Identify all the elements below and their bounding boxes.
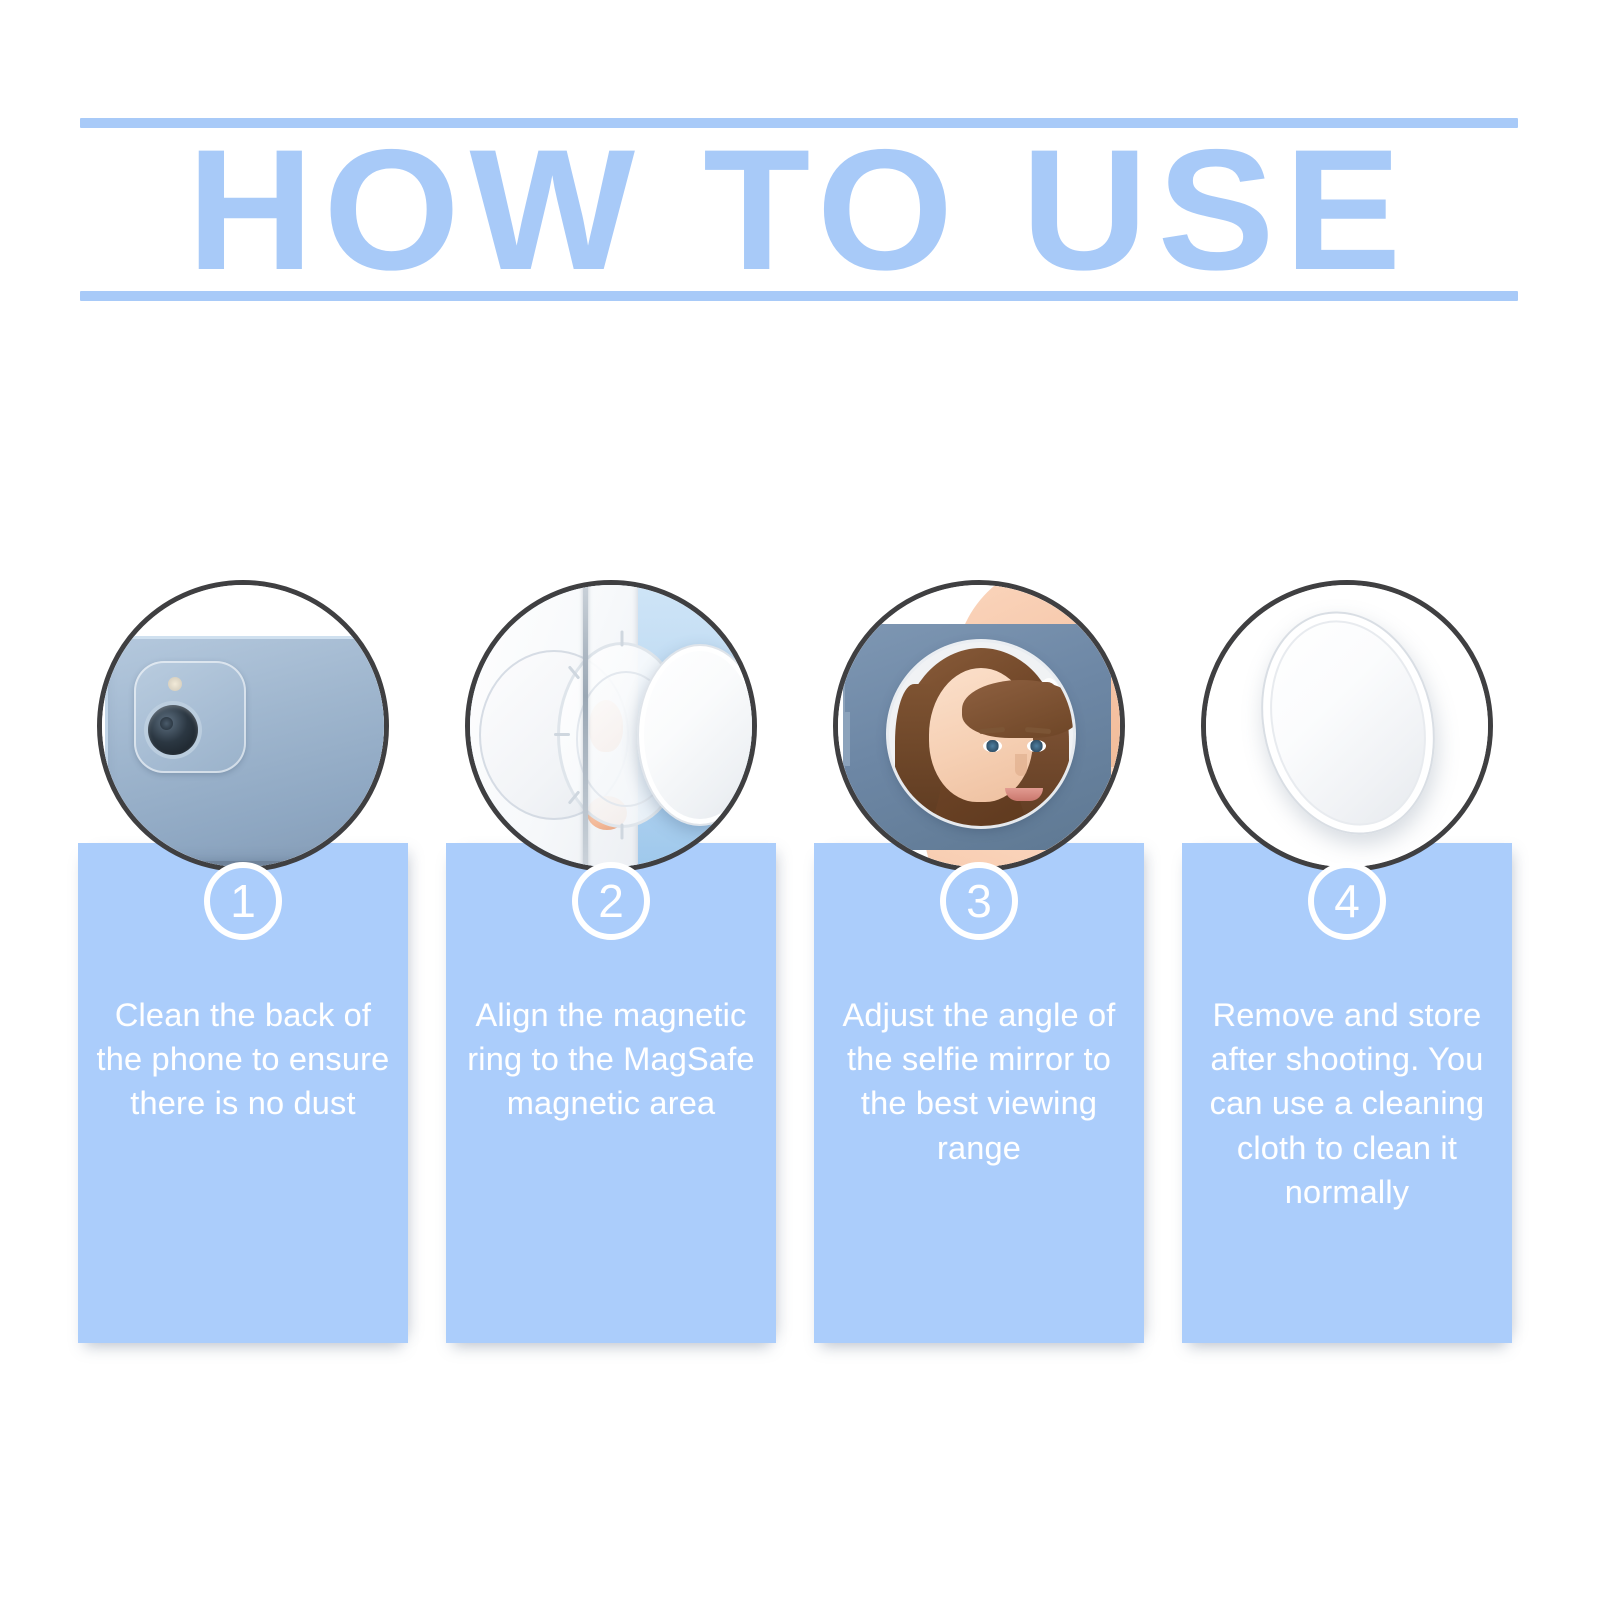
phone-back-camera-photo [97, 580, 389, 872]
step-card-2: 2 Align the magnetic ring to the MagSafe… [446, 843, 776, 1343]
step-2-illustration [465, 580, 757, 872]
selfie-mirror-graphic [889, 642, 1073, 826]
step-1-illustration [97, 580, 389, 872]
phone-side-button-graphic [843, 712, 850, 766]
infographic-page: HOW TO USE [0, 0, 1600, 1600]
circle-frame-1 [97, 580, 389, 872]
selfie-mirror-graphic [637, 644, 757, 826]
steps-row: 1 Clean the back of the phone to ensure … [78, 843, 1512, 1343]
step-text-4: Remove and store after shooting. You can… [1198, 993, 1496, 1214]
step-4-illustration [1201, 580, 1493, 872]
step-text-1: Clean the back of the phone to ensure th… [94, 993, 392, 1126]
camera-lens-icon [148, 705, 198, 755]
step-card-4: 4 Remove and store after shooting. You c… [1182, 843, 1512, 1343]
circle-frame-2 [465, 580, 757, 872]
page-title-row: HOW TO USE [80, 128, 1518, 291]
reflected-face-graphic [929, 668, 1033, 802]
step-card-3: 3 Adjust the angle of the selfie mirror … [814, 843, 1144, 1343]
step-card-1: 1 Clean the back of the phone to ensure … [78, 843, 408, 1343]
page-title: HOW TO USE [187, 124, 1411, 296]
step-text-3: Adjust the angle of the selfie mirror to… [830, 993, 1128, 1170]
step-badge-4: 4 [1308, 862, 1386, 940]
camera-bump-graphic [134, 661, 246, 773]
magsafe-ring-alignment-photo [465, 580, 757, 872]
circle-frame-3 [833, 580, 1125, 872]
step-3-illustration [833, 580, 1125, 872]
step-badge-2: 2 [572, 862, 650, 940]
step-badge-1: 1 [204, 862, 282, 940]
step-text-2: Align the magnetic ring to the MagSafe m… [462, 993, 760, 1126]
page-header: HOW TO USE [80, 118, 1518, 301]
hand-holding-phone-with-selfie-mirror-photo [833, 580, 1125, 872]
round-mirror-disc-photo [1201, 580, 1493, 872]
phone-edge-seam-graphic [583, 580, 588, 872]
phone-body-graphic [105, 636, 389, 866]
step-badge-3: 3 [940, 862, 1018, 940]
circle-frame-4 [1201, 580, 1493, 872]
camera-flash-icon [168, 677, 182, 691]
